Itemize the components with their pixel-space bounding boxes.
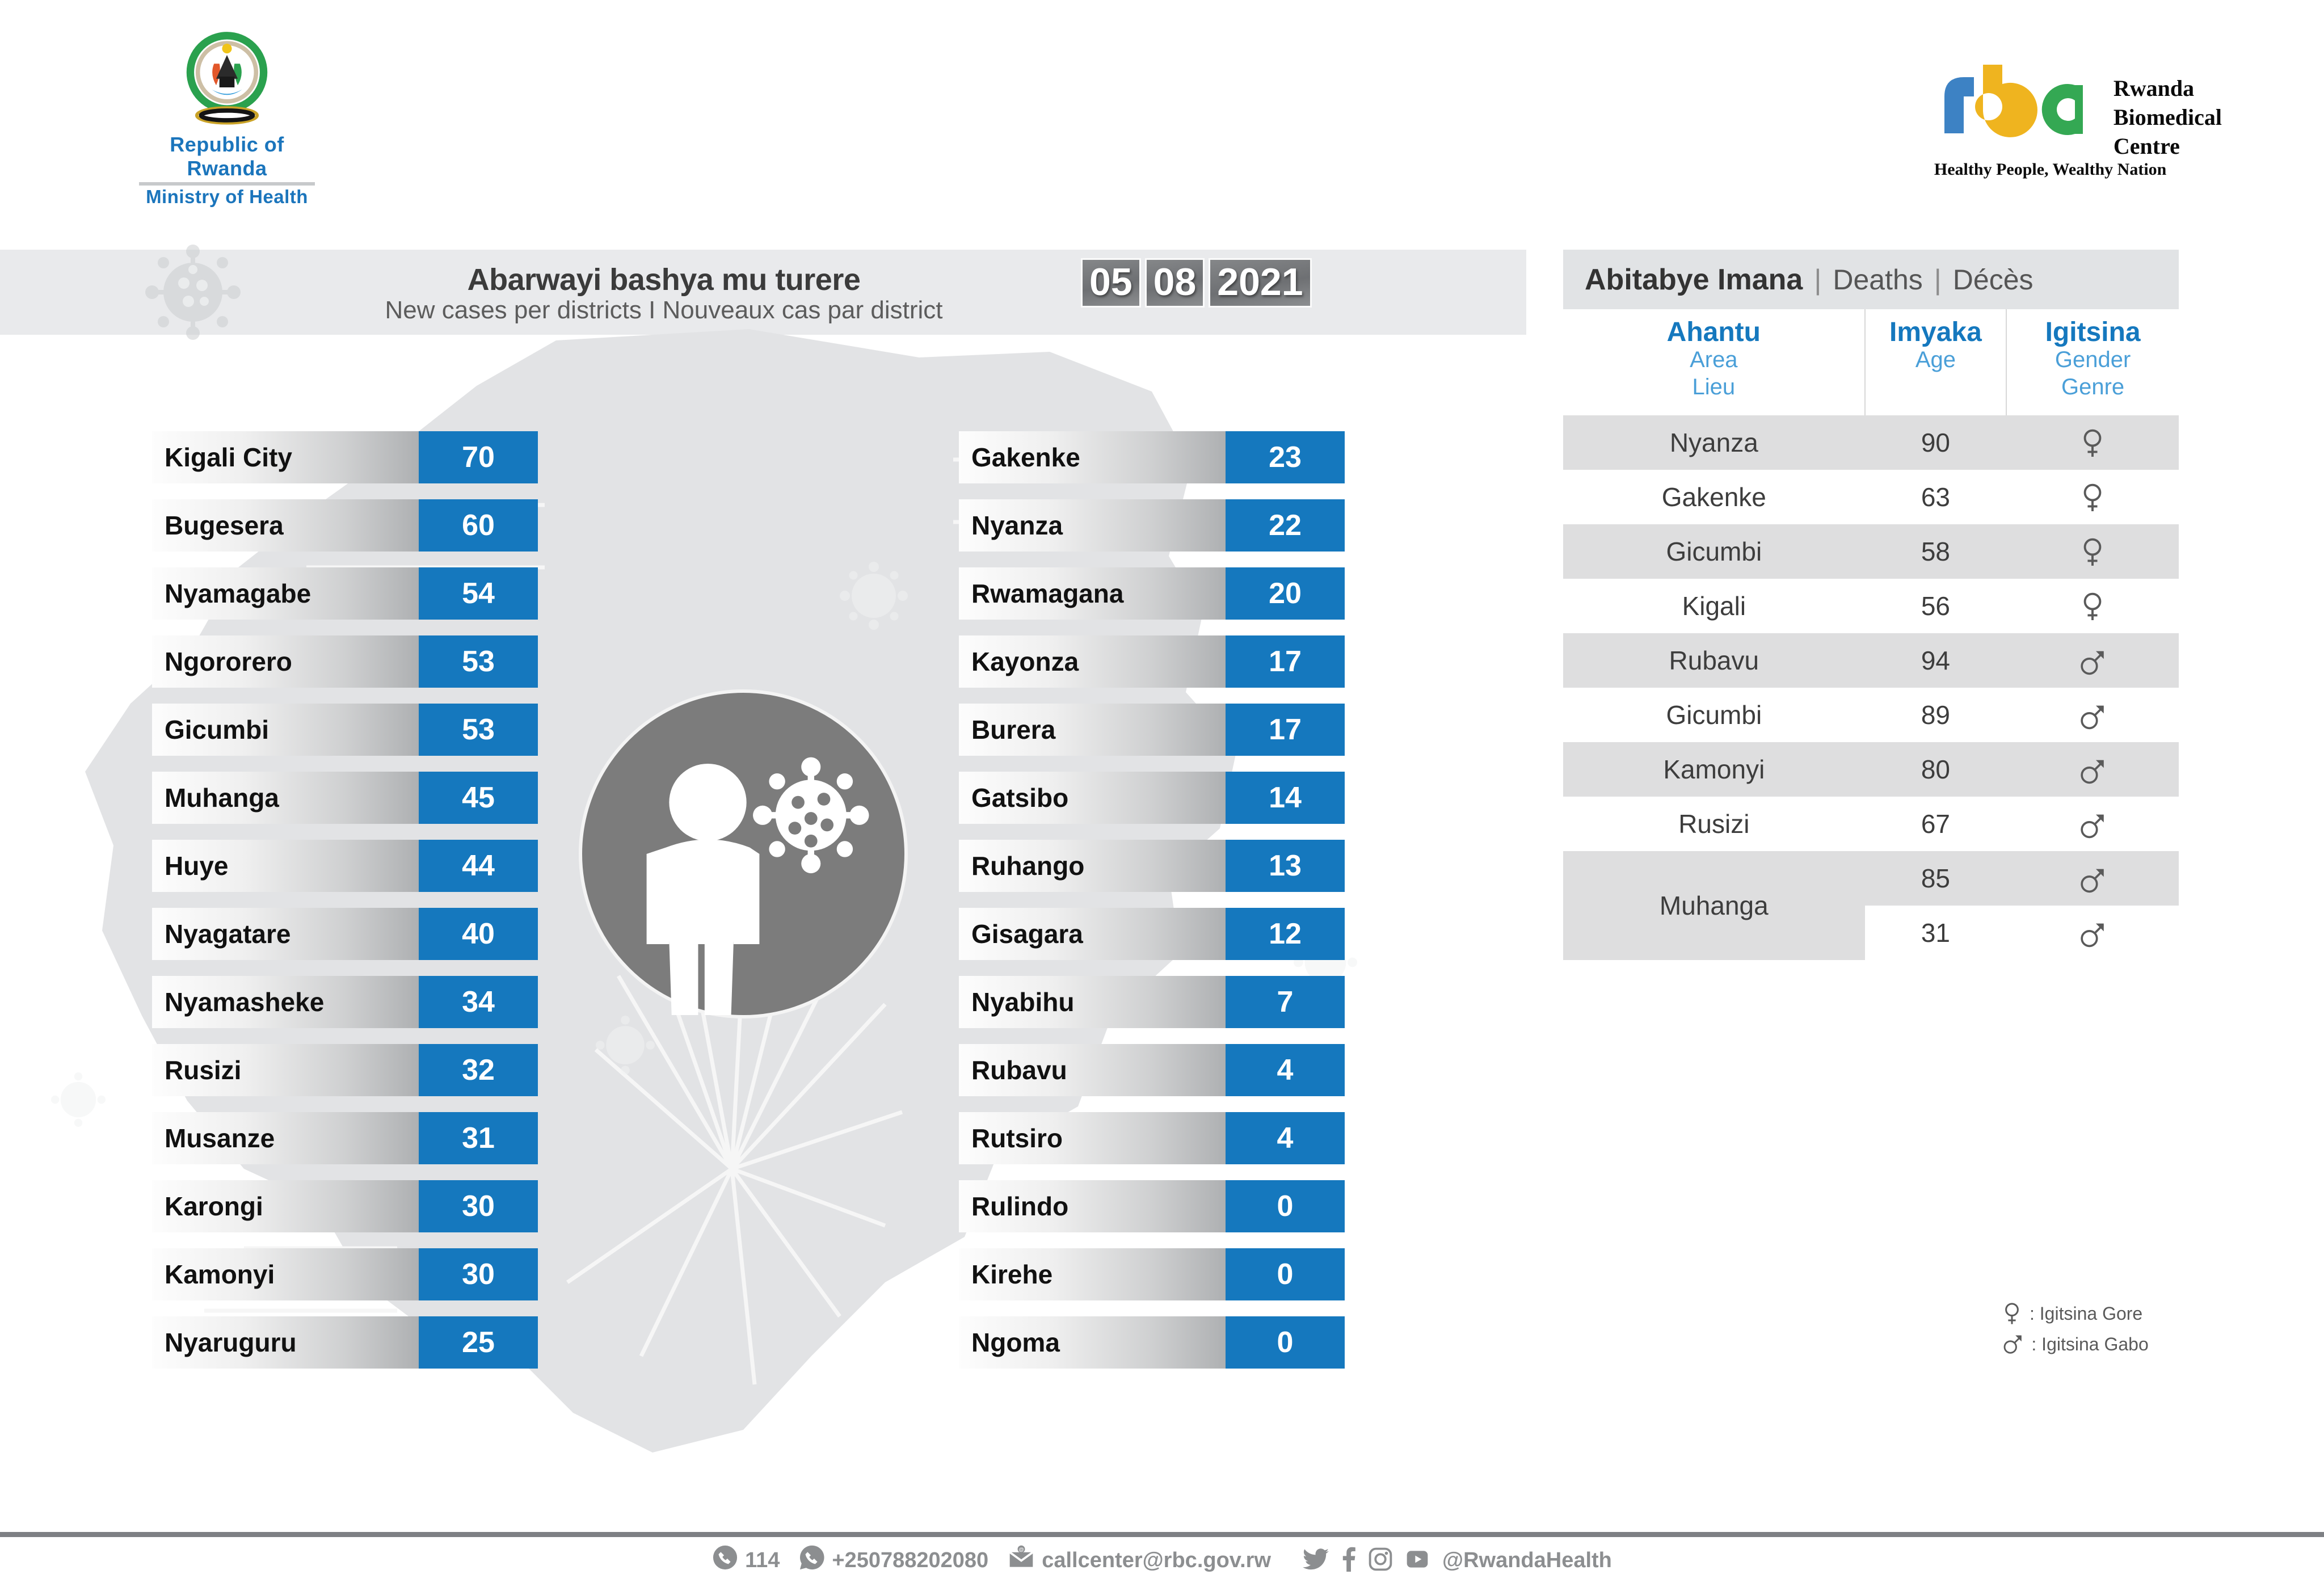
footer-email-text: callcenter@rbc.gov.rw bbox=[1042, 1548, 1271, 1573]
district-row: Bugesera60 bbox=[152, 499, 538, 552]
deaths-table-body: Nyanza90Gakenke63Gicumbi58Kigali56Rubavu… bbox=[1563, 415, 2179, 960]
rbc-name-line3: Centre bbox=[2114, 132, 2222, 161]
deaths-table: AhantuAreaLieuImyakaAgeIgitsinaGenderGen… bbox=[1563, 309, 2179, 960]
footer-hotline-text: 114 bbox=[745, 1548, 780, 1573]
district-name: Rusizi bbox=[152, 1044, 419, 1096]
deaths-table-header-row: AhantuAreaLieuImyakaAgeIgitsinaGenderGen… bbox=[1563, 309, 2179, 415]
death-area: Nyanza bbox=[1563, 415, 1865, 470]
footer-contact-bar: 114 +250788202080 @ callcenter@rbc.gov.r… bbox=[0, 1538, 2324, 1583]
district-row: Ngoma0 bbox=[959, 1316, 1345, 1369]
district-case-count: 34 bbox=[419, 976, 538, 1028]
infographic-page: Republic of Rwanda Ministry of Health Rw… bbox=[0, 0, 2324, 1587]
female-symbol-icon bbox=[2002, 1302, 2022, 1325]
deaths-heading-en: Deaths bbox=[1833, 263, 1922, 296]
district-row: Kirehe0 bbox=[959, 1248, 1345, 1300]
footer-social-handle[interactable]: @RwandaHealth bbox=[1442, 1548, 1612, 1573]
deaths-heading-sep-2: | bbox=[1934, 263, 1942, 296]
district-name: Rubavu bbox=[959, 1044, 1226, 1096]
footer-phone-text: +250788202080 bbox=[832, 1548, 988, 1573]
deaths-table-row: Kigali56 bbox=[1563, 579, 2179, 633]
district-row: Nyaruguru25 bbox=[152, 1316, 538, 1369]
rbc-mark-icon bbox=[1934, 62, 2099, 156]
death-area: Gicumbi bbox=[1563, 524, 1865, 579]
district-name: Kayonza bbox=[959, 635, 1226, 688]
male-symbol-icon bbox=[2006, 797, 2179, 851]
district-name: Ngororero bbox=[152, 635, 419, 688]
district-case-count: 12 bbox=[1226, 908, 1345, 960]
district-name: Karongi bbox=[152, 1180, 419, 1232]
virus-watermark-icon bbox=[136, 235, 250, 349]
district-name: Muhanga bbox=[152, 772, 419, 824]
district-name: Ngoma bbox=[959, 1316, 1226, 1369]
district-name: Nyamasheke bbox=[152, 976, 419, 1028]
district-row: Burera17 bbox=[959, 704, 1345, 756]
moh-ministry-label: Ministry of Health bbox=[130, 186, 323, 208]
district-name: Gisagara bbox=[959, 908, 1226, 960]
deaths-col-header-igitsina: IgitsinaGenderGenre bbox=[2006, 309, 2179, 415]
rbc-name-block: Rwanda Biomedical Centre bbox=[2114, 74, 2222, 161]
deaths-col-header-ahantu: AhantuAreaLieu bbox=[1563, 309, 1865, 415]
district-list-right: Gakenke23Nyanza22Rwamagana20Kayonza17Bur… bbox=[959, 431, 1345, 1384]
district-row: Huye44 bbox=[152, 840, 538, 892]
infected-person-icon bbox=[579, 689, 908, 1018]
district-row: Nyanza22 bbox=[959, 499, 1345, 552]
rbc-name-line1: Rwanda bbox=[2114, 74, 2222, 103]
district-row: Kamonyi30 bbox=[152, 1248, 538, 1300]
district-case-count: 31 bbox=[419, 1112, 538, 1164]
male-symbol-icon bbox=[2002, 1333, 2023, 1354]
footer-social-block: @RwandaHealth bbox=[1303, 1547, 1612, 1575]
district-name: Bugesera bbox=[152, 499, 419, 552]
district-row: Karongi30 bbox=[152, 1180, 538, 1232]
district-row: Rutsiro4 bbox=[959, 1112, 1345, 1164]
male-symbol-icon bbox=[2006, 688, 2179, 742]
district-case-count: 7 bbox=[1226, 976, 1345, 1028]
district-case-count: 45 bbox=[419, 772, 538, 824]
district-case-count: 32 bbox=[419, 1044, 538, 1096]
death-age: 63 bbox=[1865, 470, 2007, 524]
district-case-count: 13 bbox=[1226, 840, 1345, 892]
district-name: Gatsibo bbox=[959, 772, 1226, 824]
death-area: Muhanga bbox=[1563, 851, 1865, 960]
col-title-sub1: Gender bbox=[2007, 347, 2179, 373]
deaths-table-row: Muhanga85 bbox=[1563, 851, 2179, 906]
district-case-count: 44 bbox=[419, 840, 538, 892]
district-name: Burera bbox=[959, 704, 1226, 756]
moh-divider bbox=[139, 182, 315, 186]
death-age: 31 bbox=[1865, 906, 2007, 960]
district-case-count: 53 bbox=[419, 635, 538, 688]
district-case-count: 70 bbox=[419, 431, 538, 483]
col-title-main: Ahantu bbox=[1563, 318, 1864, 347]
district-name: Nyaruguru bbox=[152, 1316, 419, 1369]
district-name: Nyanza bbox=[959, 499, 1226, 552]
death-age: 80 bbox=[1865, 742, 2007, 797]
district-name: Huye bbox=[152, 840, 419, 892]
district-row: Ngororero53 bbox=[152, 635, 538, 688]
district-name: Gicumbi bbox=[152, 704, 419, 756]
district-case-count: 53 bbox=[419, 704, 538, 756]
whatsapp-icon bbox=[799, 1544, 825, 1576]
district-row: Kayonza17 bbox=[959, 635, 1345, 688]
district-case-count: 0 bbox=[1226, 1180, 1345, 1232]
deaths-table-row: Gakenke63 bbox=[1563, 470, 2179, 524]
death-age: 58 bbox=[1865, 524, 2007, 579]
death-age: 56 bbox=[1865, 579, 2007, 633]
deaths-table-row: Nyanza90 bbox=[1563, 415, 2179, 470]
district-row: Gatsibo14 bbox=[959, 772, 1345, 824]
district-name: Nyabihu bbox=[959, 976, 1226, 1028]
district-row: Rwamagana20 bbox=[959, 567, 1345, 620]
male-symbol-icon bbox=[2006, 742, 2179, 797]
district-name: Gakenke bbox=[959, 431, 1226, 483]
rbc-logo: Rwanda Biomedical Centre Healthy People,… bbox=[1934, 62, 2222, 161]
col-title-main: Imyaka bbox=[1866, 318, 2006, 347]
district-case-count: 4 bbox=[1226, 1112, 1345, 1164]
district-row: Ruhango13 bbox=[959, 840, 1345, 892]
death-age: 94 bbox=[1865, 633, 2007, 688]
banner-subtitle: New cases per districts I Nouveaux cas p… bbox=[267, 296, 1061, 325]
col-title-sub1: Age bbox=[1866, 347, 2006, 373]
district-row: Muhanga45 bbox=[152, 772, 538, 824]
district-case-count: 17 bbox=[1226, 704, 1345, 756]
district-row: Rubavu4 bbox=[959, 1044, 1345, 1096]
deaths-table-row: Gicumbi89 bbox=[1563, 688, 2179, 742]
female-symbol-icon bbox=[2006, 579, 2179, 633]
male-symbol-icon bbox=[2006, 851, 2179, 906]
legend-label: : Igitsina Gore bbox=[2030, 1303, 2142, 1324]
district-case-count: 30 bbox=[419, 1180, 538, 1232]
district-name: Nyamagabe bbox=[152, 567, 419, 620]
district-name: Ruhango bbox=[959, 840, 1226, 892]
male-symbol-icon bbox=[2006, 633, 2179, 688]
district-name: Kirehe bbox=[959, 1248, 1226, 1300]
district-case-count: 0 bbox=[1226, 1316, 1345, 1369]
district-case-count: 14 bbox=[1226, 772, 1345, 824]
district-row: Rusizi32 bbox=[152, 1044, 538, 1096]
date-day: 05 bbox=[1081, 258, 1141, 308]
death-age: 90 bbox=[1865, 415, 2007, 470]
deaths-heading-fr: Décès bbox=[1953, 263, 2033, 296]
district-list-left: Kigali City70Bugesera60Nyamagabe54Ngoror… bbox=[152, 431, 538, 1384]
district-name: Rutsiro bbox=[959, 1112, 1226, 1164]
legend-item: : Igitsina Gore bbox=[1994, 1302, 2149, 1325]
district-case-count: 4 bbox=[1226, 1044, 1345, 1096]
date-year: 2021 bbox=[1209, 258, 1311, 308]
death-area: Kigali bbox=[1563, 579, 1865, 633]
district-name: Kigali City bbox=[152, 431, 419, 483]
district-case-count: 20 bbox=[1226, 567, 1345, 620]
footer-phone[interactable]: +250788202080 bbox=[799, 1544, 988, 1576]
district-case-count: 17 bbox=[1226, 635, 1345, 688]
district-row: Musanze31 bbox=[152, 1112, 538, 1164]
death-area: Rubavu bbox=[1563, 633, 1865, 688]
death-area: Gicumbi bbox=[1563, 688, 1865, 742]
deaths-table-row: Gicumbi58 bbox=[1563, 524, 2179, 579]
district-case-count: 40 bbox=[419, 908, 538, 960]
moh-country-label: Republic of Rwanda bbox=[130, 133, 323, 180]
death-area: Gakenke bbox=[1563, 470, 1865, 524]
death-age: 85 bbox=[1865, 851, 2007, 906]
death-area: Rusizi bbox=[1563, 797, 1865, 851]
district-case-count: 25 bbox=[419, 1316, 538, 1369]
district-row: Nyamasheke34 bbox=[152, 976, 538, 1028]
district-case-count: 0 bbox=[1226, 1248, 1345, 1300]
district-row: Nyabihu7 bbox=[959, 976, 1345, 1028]
envelope-icon: @ bbox=[1008, 1544, 1035, 1576]
youtube-icon[interactable] bbox=[1405, 1547, 1430, 1574]
death-age: 67 bbox=[1865, 797, 2007, 851]
death-age: 89 bbox=[1865, 688, 2007, 742]
district-case-count: 60 bbox=[419, 499, 538, 552]
deaths-panel: Abitabye Imana | Deaths | Décès AhantuAr… bbox=[1563, 250, 2179, 960]
footer-hotline[interactable]: 114 bbox=[712, 1544, 780, 1576]
deaths-table-row: Rubavu94 bbox=[1563, 633, 2179, 688]
col-title-main: Igitsina bbox=[2007, 318, 2179, 347]
female-symbol-icon bbox=[2006, 470, 2179, 524]
footer-email[interactable]: @ callcenter@rbc.gov.rw bbox=[1008, 1544, 1271, 1576]
district-case-count: 22 bbox=[1226, 499, 1345, 552]
facebook-icon[interactable] bbox=[1341, 1547, 1356, 1575]
deaths-heading-sep-1: | bbox=[1814, 263, 1821, 296]
legend-label: : Igitsina Gabo bbox=[2031, 1334, 2148, 1355]
district-case-count: 23 bbox=[1226, 431, 1345, 483]
female-symbol-icon bbox=[2006, 415, 2179, 470]
district-row: Nyamagabe54 bbox=[152, 567, 538, 620]
twitter-icon[interactable] bbox=[1303, 1548, 1329, 1573]
district-row: Gicumbi53 bbox=[152, 704, 538, 756]
deaths-heading-rw: Abitabye Imana bbox=[1585, 263, 1803, 297]
gender-legend: : Igitsina Gore: Igitsina Gabo bbox=[1994, 1302, 2149, 1363]
death-area: Kamonyi bbox=[1563, 742, 1865, 797]
col-title-sub1: Area bbox=[1563, 347, 1864, 373]
district-name: Rulindo bbox=[959, 1180, 1226, 1232]
deaths-panel-header: Abitabye Imana | Deaths | Décès bbox=[1563, 250, 2179, 309]
rwanda-coat-of-arms-icon bbox=[173, 23, 281, 131]
male-symbol-icon bbox=[2006, 906, 2179, 960]
district-name: Kamonyi bbox=[152, 1248, 419, 1300]
rbc-tagline: Healthy People, Wealthy Nation bbox=[1934, 160, 2166, 179]
deaths-table-row: Rusizi67 bbox=[1563, 797, 2179, 851]
district-row: Rulindo0 bbox=[959, 1180, 1345, 1232]
deaths-table-row: Kamonyi80 bbox=[1563, 742, 2179, 797]
banner-title: Abarwayi bashya mu turere bbox=[267, 262, 1061, 297]
footer-divider bbox=[0, 1532, 2324, 1537]
svg-text:@: @ bbox=[1019, 1547, 1024, 1552]
district-case-count: 30 bbox=[419, 1248, 538, 1300]
rbc-name-line2: Biomedical bbox=[2114, 103, 2222, 132]
district-case-count: 54 bbox=[419, 567, 538, 620]
ministry-of-health-logo: Republic of Rwanda Ministry of Health bbox=[130, 23, 323, 208]
legend-item: : Igitsina Gabo bbox=[1994, 1333, 2149, 1354]
district-name: Nyagatare bbox=[152, 908, 419, 960]
deaths-col-header-imyaka: ImyakaAge bbox=[1865, 309, 2007, 415]
district-row: Gisagara12 bbox=[959, 908, 1345, 960]
banner-text-block: Abarwayi bashya mu turere New cases per … bbox=[267, 262, 1061, 325]
district-row: Gakenke23 bbox=[959, 431, 1345, 483]
district-name: Musanze bbox=[152, 1112, 419, 1164]
district-name: Rwamagana bbox=[959, 567, 1226, 620]
female-symbol-icon bbox=[2006, 524, 2179, 579]
phone-circle-icon bbox=[712, 1544, 738, 1576]
district-row: Kigali City70 bbox=[152, 431, 538, 483]
col-title-sub2: Genre bbox=[2007, 374, 2179, 401]
date-month: 08 bbox=[1145, 258, 1205, 308]
date-badge: 05 08 2021 bbox=[1081, 258, 1312, 308]
instagram-icon[interactable] bbox=[1369, 1547, 1392, 1574]
district-row: Nyagatare40 bbox=[152, 908, 538, 960]
col-title-sub2: Lieu bbox=[1563, 374, 1864, 401]
